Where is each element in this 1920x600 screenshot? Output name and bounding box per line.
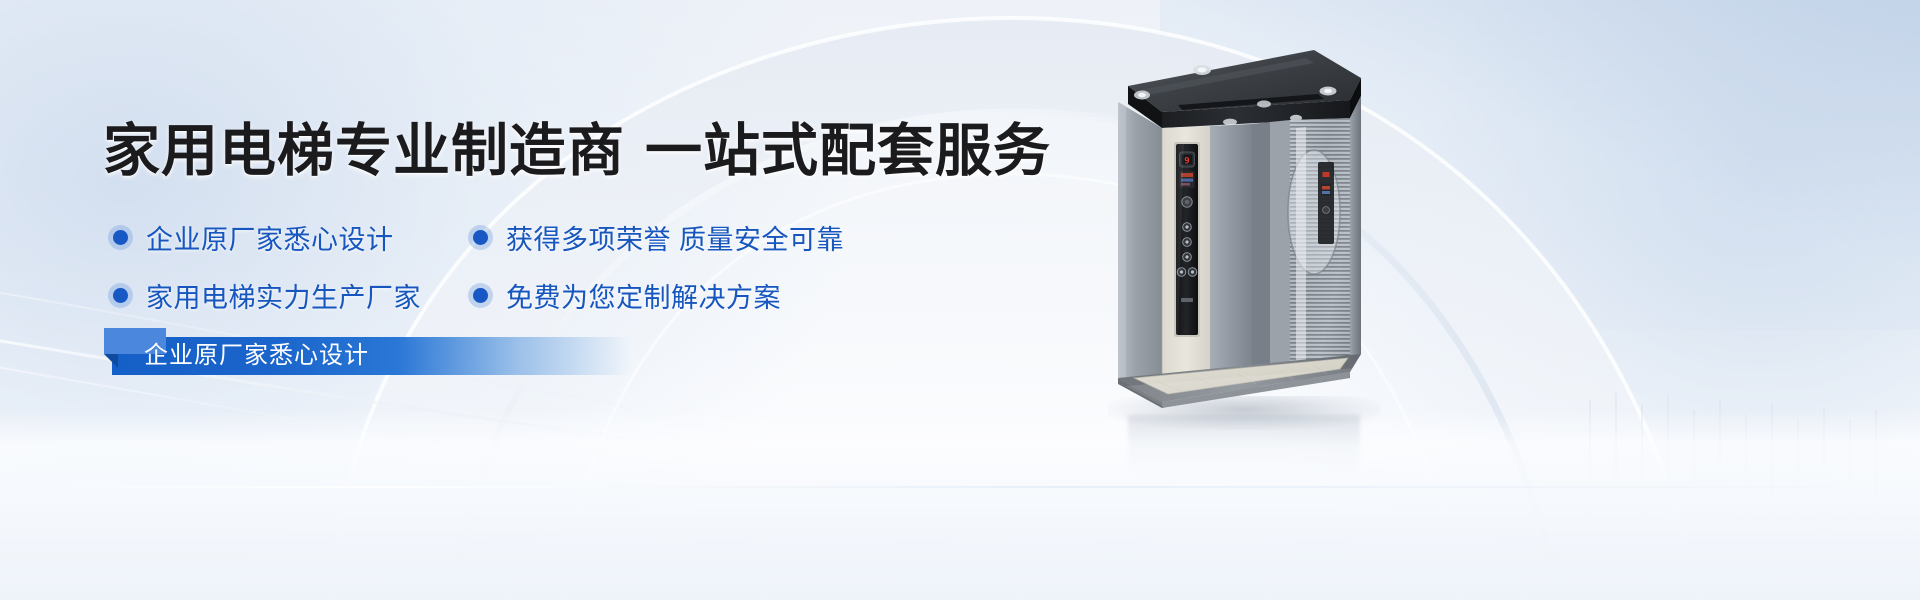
feature-item-3: 家用电梯实力生产厂家 xyxy=(110,266,470,324)
banner-content: 家用电梯专业制造商一站式配套服务 企业原厂家悉心设计 获得多项荣誉 质量安全可靠… xyxy=(0,0,1100,600)
elevator-floor-reflection xyxy=(1128,415,1360,475)
banner-stage: 9 xyxy=(0,0,1920,600)
headline-part-2: 一站式配套服务 xyxy=(645,119,1051,183)
feature-row-1: 企业原厂家悉心设计 获得多项荣誉 质量安全可靠 xyxy=(110,208,990,266)
elevator-floor-display: 9 xyxy=(1184,157,1189,167)
feature-label-2: 获得多项荣誉 质量安全可靠 xyxy=(506,218,844,257)
feature-list: 企业原厂家悉心设计 获得多项荣誉 质量安全可靠 家用电梯实力生产厂家 免费为您定… xyxy=(110,208,990,324)
feature-label-1: 企业原厂家悉心设计 xyxy=(146,218,394,257)
feature-item-4: 免费为您定制解决方案 xyxy=(470,266,781,324)
feature-label-3: 家用电梯实力生产厂家 xyxy=(146,276,421,315)
feature-item-2: 获得多项荣誉 质量安全可靠 xyxy=(470,208,844,266)
bullet-dot-icon xyxy=(113,230,128,245)
feature-label-4: 免费为您定制解决方案 xyxy=(506,276,781,315)
headline-part-1: 家用电梯专业制造商 xyxy=(103,119,625,183)
feature-row-2: 家用电梯实力生产厂家 免费为您定制解决方案 xyxy=(110,266,990,324)
page-title: 家用电梯专业制造商一站式配套服务 xyxy=(103,118,1051,184)
highlight-ribbon[interactable]: 企业原厂家悉心设计 xyxy=(112,337,632,375)
bullet-dot-icon xyxy=(473,230,488,245)
bullet-dot-icon xyxy=(113,288,128,303)
feature-item-1: 企业原厂家悉心设计 xyxy=(110,208,470,266)
bullet-dot-icon xyxy=(473,288,488,303)
ribbon-label: 企业原厂家悉心设计 xyxy=(144,337,369,375)
home-elevator-product-image: 9 xyxy=(1118,42,1366,422)
ribbon-fold-notch-icon xyxy=(104,354,118,368)
